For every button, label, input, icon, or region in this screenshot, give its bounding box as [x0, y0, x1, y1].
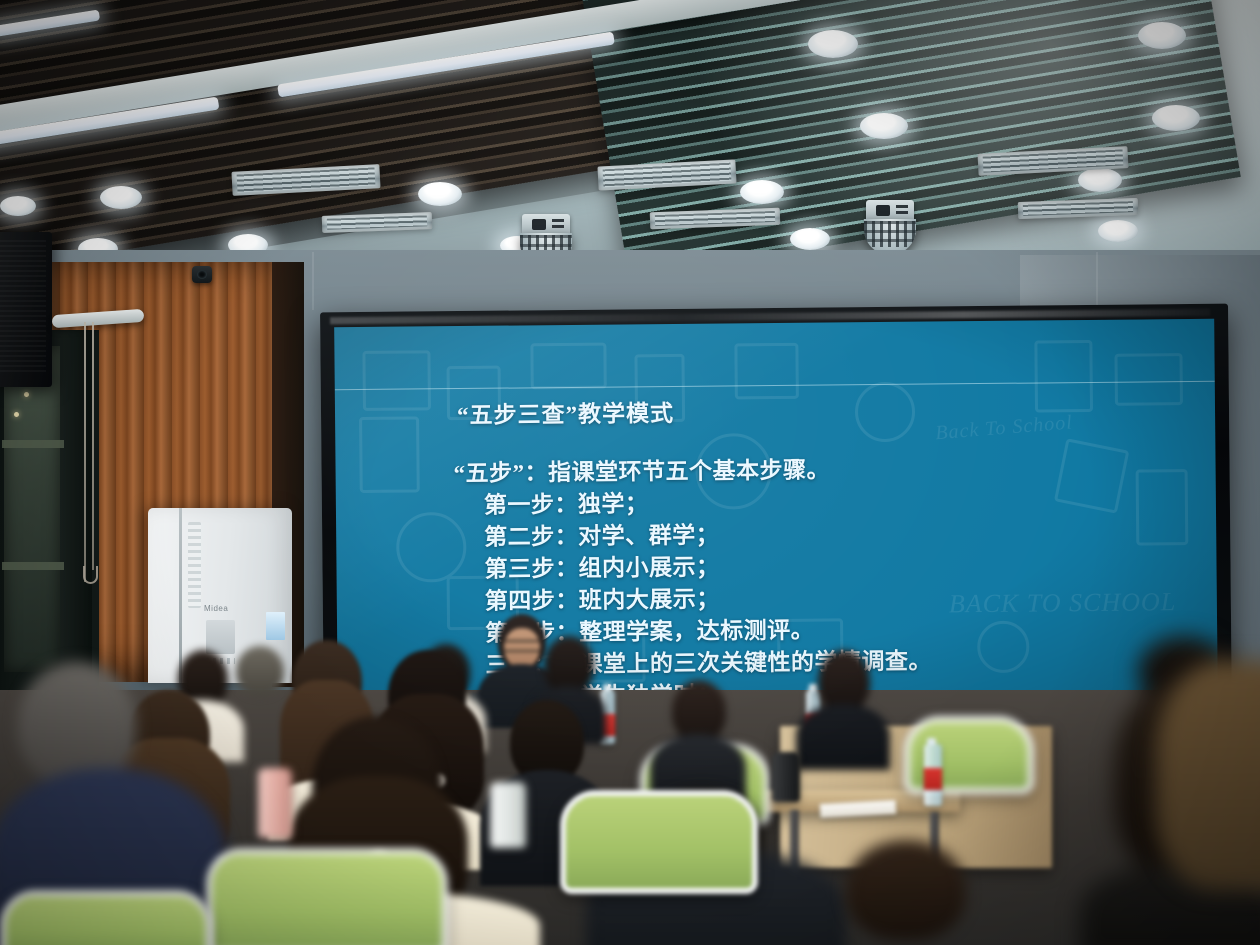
recessed-downlight: [418, 182, 462, 206]
wall-seam: [312, 252, 314, 310]
ac-grille: [188, 522, 201, 608]
audience-torso: [796, 704, 890, 770]
audience-head: [818, 650, 870, 712]
water-bottle[interactable]: [924, 744, 942, 806]
thermos-flask[interactable]: [490, 782, 526, 848]
audience-head: [846, 840, 966, 940]
audience-member: [1156, 660, 1260, 945]
thermos-flask[interactable]: [258, 768, 292, 838]
bottle-label: [924, 768, 942, 790]
thermos-flask[interactable]: [772, 752, 800, 802]
green-mesh-chair[interactable]: [560, 790, 758, 894]
recessed-downlight: [1098, 220, 1138, 242]
camera-indicator-icon: [896, 205, 908, 216]
slide-line: “五步”：指课堂环节五个基本步骤。: [453, 450, 830, 488]
recessed-downlight: [0, 196, 36, 216]
blind-cord[interactable]: [92, 322, 94, 570]
window-glass: [4, 346, 60, 672]
ceiling-dome-camera: [862, 200, 918, 256]
lecture-hall-photo: Midea Back To School BACK TO SCHOOL: [0, 0, 1260, 945]
window-reflection: [24, 392, 29, 397]
bottle-cap: [927, 738, 936, 745]
camera-indicator-icon: [552, 219, 564, 230]
audience-head: [1156, 660, 1260, 890]
audience-member: [796, 650, 890, 766]
window-reflection: [14, 412, 19, 417]
blind-cord[interactable]: [84, 322, 86, 582]
hvac-vent: [322, 212, 433, 233]
recessed-downlight: [808, 30, 858, 58]
window-mullion: [2, 440, 64, 448]
green-mesh-chair[interactable]: [206, 848, 448, 945]
hvac-vent: [1018, 198, 1139, 219]
audience-member: [806, 840, 1016, 945]
ac-energy-sticker: [266, 612, 285, 640]
blind-cord-loop[interactable]: [83, 566, 98, 584]
slide-line: 第四步：班内大展示；: [485, 580, 720, 616]
wall-speaker: [0, 232, 52, 387]
recessed-downlight: [740, 180, 784, 204]
window-mullion: [2, 562, 64, 570]
camera-lens-icon: [532, 219, 546, 230]
slide-line: 第三步：组内小展示；: [484, 548, 719, 584]
slide-line: 第一步：独学；: [484, 484, 649, 520]
recessed-downlight: [860, 113, 908, 139]
audience-head: [672, 680, 726, 742]
audience-member: [650, 680, 746, 800]
ac-brand-label: Midea: [204, 604, 228, 613]
recessed-downlight: [1138, 22, 1186, 49]
green-mesh-chair[interactable]: [0, 890, 212, 945]
recessed-downlight: [1152, 105, 1200, 131]
slide-title: “五步三查”教学模式: [457, 394, 674, 430]
recessed-downlight: [1078, 168, 1122, 192]
recessed-downlight: [100, 186, 142, 209]
wall-security-camera: [192, 266, 212, 283]
camera-lens-icon: [876, 205, 890, 216]
wall-seam: [1096, 252, 1098, 312]
recessed-downlight: [790, 228, 830, 250]
slide-line: 第二步：对学、群学；: [484, 516, 719, 552]
